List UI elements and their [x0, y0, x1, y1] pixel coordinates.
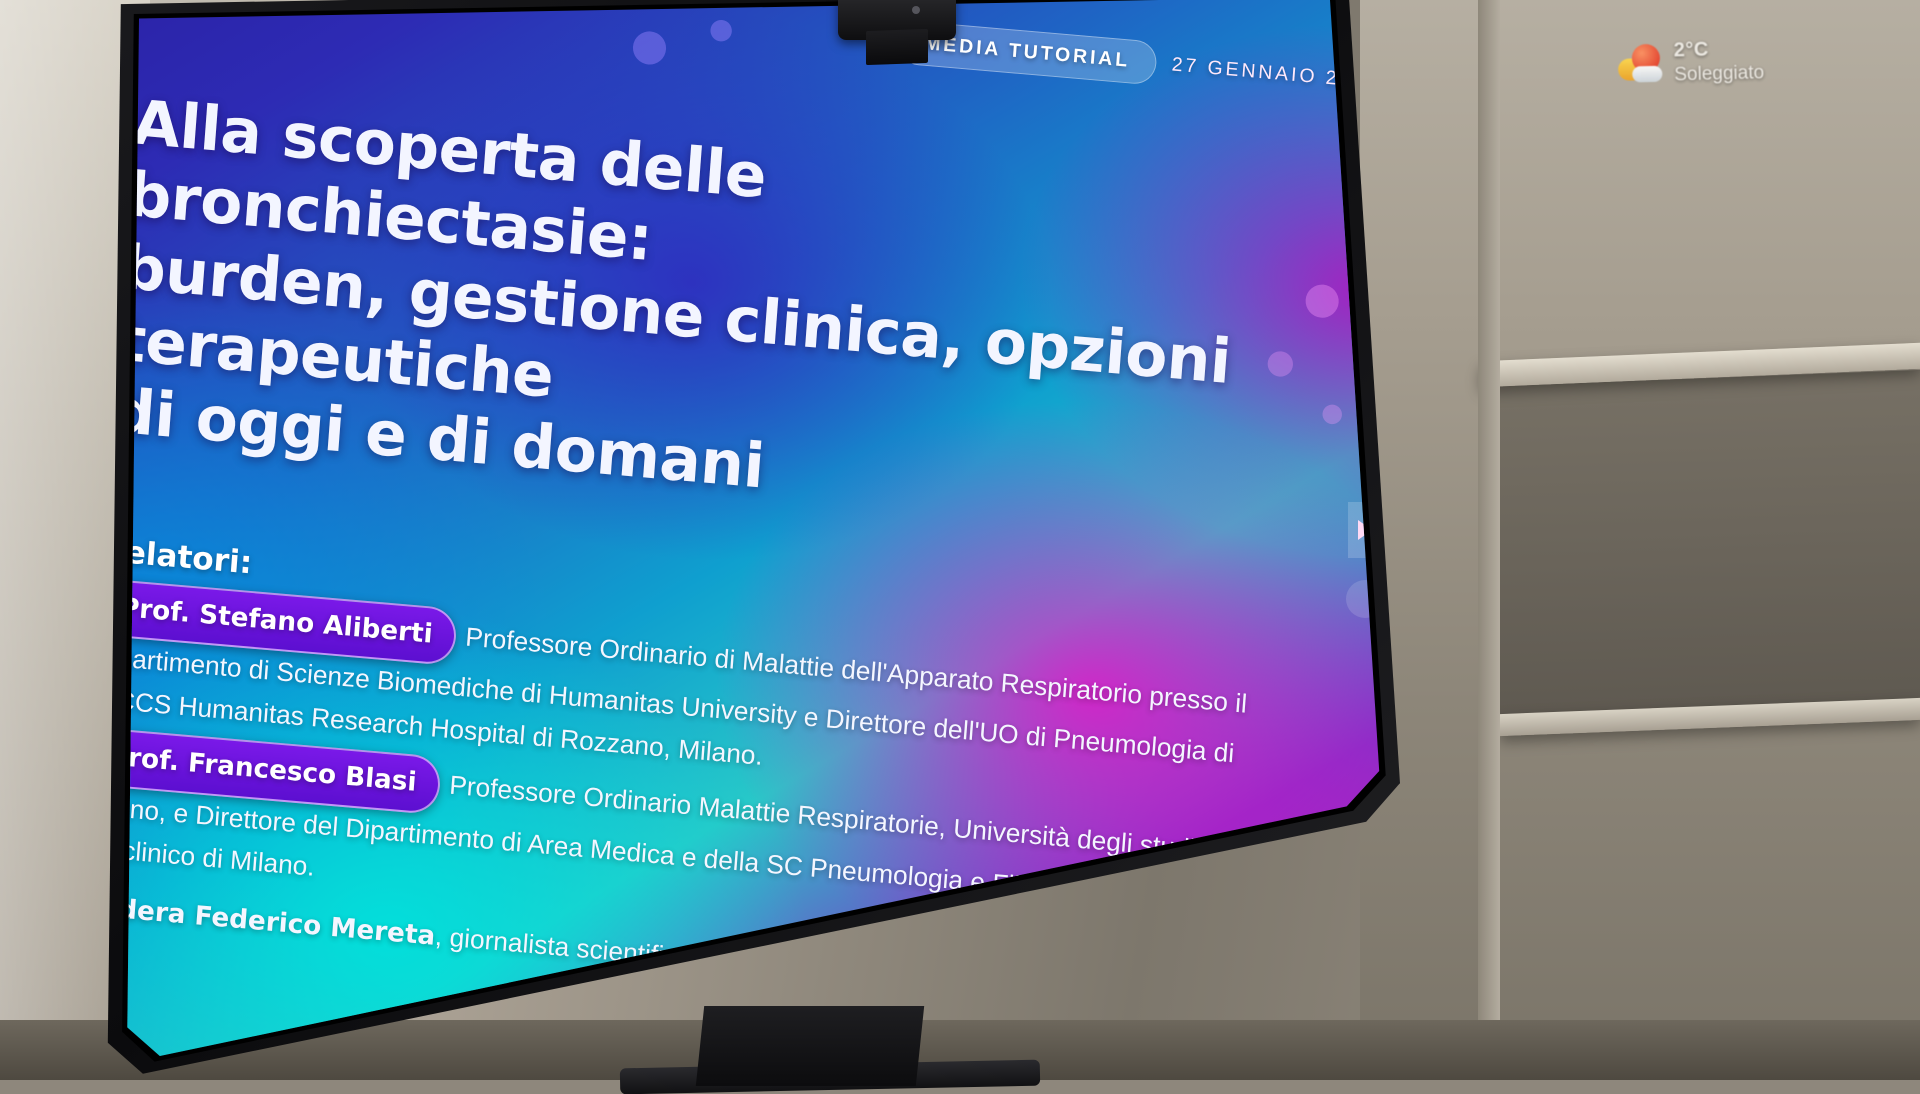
shelf-side-panel	[1478, 0, 1500, 1080]
weather-condition: Soleggiato	[1674, 61, 1764, 87]
decor-dot	[1322, 404, 1343, 425]
weather-text: 2°C Soleggiato	[1673, 36, 1764, 87]
next-tooltip: Avanti	[1326, 923, 1380, 947]
decor-dot	[1304, 283, 1339, 319]
webcam-lens-icon	[912, 6, 920, 14]
television: insmed® MEDIA TUTORIAL 27 GENNAIO 2026 A…	[100, 0, 1400, 1087]
shelf-unit	[1360, 0, 1920, 1080]
weather-widget[interactable]: 2°C Soleggiato	[1617, 19, 1849, 103]
shelf-recess	[1500, 370, 1920, 716]
webcam	[838, 0, 956, 40]
tv-screen[interactable]: insmed® MEDIA TUTORIAL 27 GENNAIO 2026 A…	[100, 0, 1400, 1087]
slide-title: Alla scoperta delle bronchiectasie: burd…	[109, 87, 1291, 547]
webcam-mount-clip	[866, 29, 928, 65]
decor-dot	[632, 30, 667, 66]
moderator-name: Modera Federico Mereta	[100, 890, 436, 951]
decor-dot	[710, 19, 733, 42]
sun-cloud-icon	[1618, 42, 1665, 85]
decor-dot	[692, 944, 817, 1070]
mouse-cursor	[1327, 985, 1340, 1002]
badge-row: MEDIA TUTORIAL 27 GENNAIO 2026	[896, 20, 1382, 105]
presentation-slide[interactable]: insmed® MEDIA TUTORIAL 27 GENNAIO 2026 A…	[100, 0, 1400, 1087]
weather-temperature: 2°C	[1673, 36, 1763, 63]
